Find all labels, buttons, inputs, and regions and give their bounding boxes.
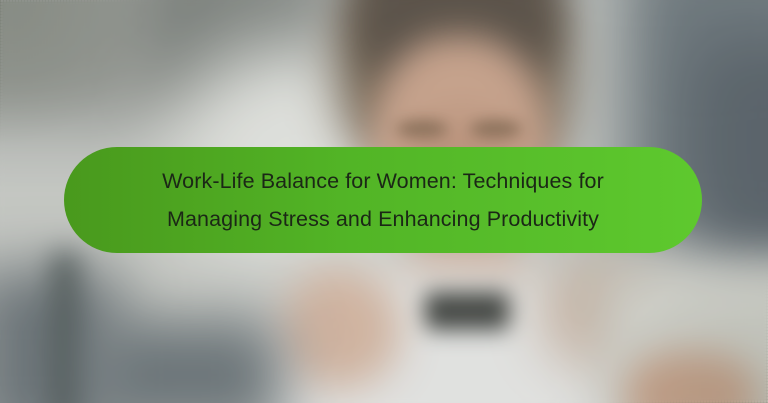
title-banner-pill: Work-Life Balance for Women: Techniques … <box>64 147 702 253</box>
page-title: Work-Life Balance for Women: Techniques … <box>162 162 604 238</box>
banner-canvas: Work-Life Balance for Women: Techniques … <box>0 0 768 403</box>
